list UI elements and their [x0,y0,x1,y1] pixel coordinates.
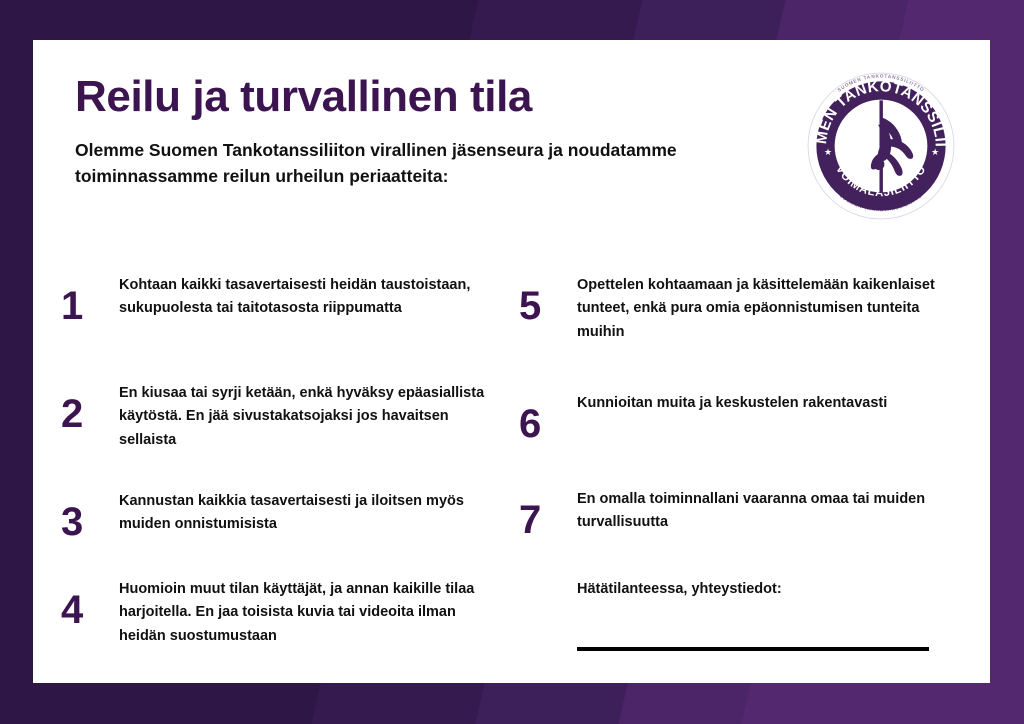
pledge-text-6: Kunnioitan muita ja keskustelen rakentav… [577,390,949,415]
pledge-number-3: 3 [61,488,119,542]
pledge-item-6: 6 Kunnioitan muita ja keskustelen rakent… [519,390,949,444]
intro-paragraph: Olemme Suomen Tankotanssiliiton virallin… [75,138,735,190]
pledge-text-2: En kiusaa tai syrji ketään, enkä hyväksy… [119,380,491,452]
pledge-item-3: 3 Kannustan kaikkia tasavertaisesti ja i… [61,488,491,542]
pledge-text-3: Kannustan kaikkia tasavertaisesti ja ilo… [119,488,491,537]
logo-star-left-icon: ★ [824,147,832,157]
pledge-number-7: 7 [519,486,577,540]
page-title: Reilu ja turvallinen tila [75,72,532,122]
pledge-columns: 1 Kohtaan kaikki tasavertaisesti heidän … [61,230,961,660]
pledge-number-2: 2 [61,380,119,434]
pledge-item-1: 1 Kohtaan kaikki tasavertaisesti heidän … [61,272,491,326]
logo-star-right-icon: ★ [931,147,939,157]
pledge-number-1: 1 [61,272,119,326]
pledge-number-4: 4 [61,576,119,630]
poster-root: Reilu ja turvallinen tila Olemme Suomen … [0,0,1024,724]
federation-logo: SUOMEN TANKOTANSSILIITTO SUOMEN TANKOTAN… [805,70,957,222]
emergency-contact-label: Hätätilanteessa, yhteystiedot: [577,578,939,601]
pledge-text-5: Opettelen kohtaamaan ja käsittelemään ka… [577,272,949,344]
emergency-contact-write-in-line[interactable] [577,647,929,651]
pledge-item-4: 4 Huomioin muut tilan käyttäjät, ja anna… [61,576,491,648]
pledge-number-5: 5 [519,272,577,326]
content-card: Reilu ja turvallinen tila Olemme Suomen … [33,40,990,683]
pledge-item-5: 5 Opettelen kohtaamaan ja käsittelemään … [519,272,949,344]
pledge-text-1: Kohtaan kaikki tasavertaisesti heidän ta… [119,272,491,321]
pledge-column-left: 1 Kohtaan kaikki tasavertaisesti heidän … [61,230,511,660]
pledge-text-7: En omalla toiminnallani vaaranna omaa ta… [577,486,949,535]
pledge-text-4: Huomioin muut tilan käyttäjät, ja annan … [119,576,491,648]
pledge-item-2: 2 En kiusaa tai syrji ketään, enkä hyväk… [61,380,491,452]
pledge-item-7: 7 En omalla toiminnallani vaaranna omaa … [519,486,949,540]
pledge-number-6: 6 [519,390,577,444]
emergency-contact-block: Hätätilanteessa, yhteystiedot: [519,578,939,651]
